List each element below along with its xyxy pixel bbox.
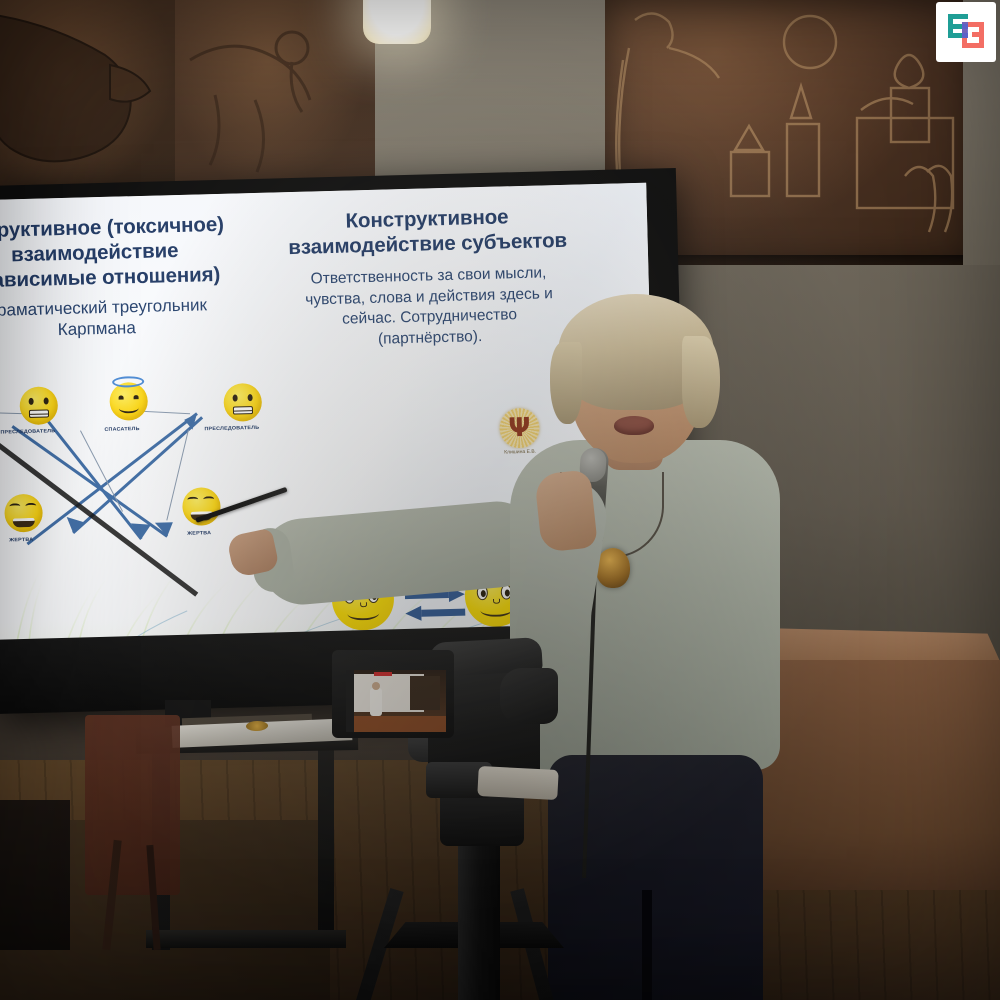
- camera-grip-strap: [477, 766, 558, 800]
- bas-relief-panel-left: [160, 0, 375, 200]
- lcd-side-controls: [346, 670, 354, 732]
- dragon-head-sculpture: [0, 0, 175, 195]
- podium-lower-shelf: [146, 930, 346, 948]
- presenter-left-hand: [534, 469, 598, 552]
- right-title: Конструктивное взаимодействие субъектов: [277, 203, 578, 261]
- partnership-diagram: [0, 183, 646, 200]
- slide-left-column: еструктивное (токсичное) взаимодействие …: [0, 211, 262, 344]
- tripod-center-column: [458, 836, 500, 1000]
- presenter-pendant: [596, 548, 630, 588]
- lcd-preview-dark-area: [410, 676, 440, 710]
- camera-lcd-housing: [332, 650, 454, 738]
- label-rescuer: СПАСАТЕЛЬ: [104, 426, 139, 432]
- presenter-hair-left: [550, 342, 582, 424]
- presenter-hair-right: [682, 336, 720, 428]
- lcd-record-indicator: [374, 672, 392, 676]
- ceiling-lamp: [363, 0, 431, 44]
- camera-eyepiece: [500, 668, 558, 724]
- lcd-preview-person-head: [372, 682, 380, 690]
- photo-scene: еструктивное (токсичное) взаимодействие …: [0, 0, 1000, 1000]
- left-subtitle: Драматический треугольник Карпмана: [0, 293, 262, 344]
- lcd-preview-person: [370, 688, 382, 716]
- speaker-box: [0, 800, 70, 950]
- left-title: еструктивное (токсичное) взаимодействие …: [0, 211, 261, 295]
- chair: [85, 715, 180, 895]
- corner-logo: [936, 2, 996, 62]
- tripod-head: [440, 790, 524, 846]
- logo-marks: [946, 12, 986, 52]
- karpman-triangle-diagram: ПРЕСЛЕДОВАТЕЛЬ СПАСАТЕЛЬ ПРЕСЛЕДОВАТЕЛЬ: [0, 183, 646, 200]
- video-camera-on-tripod: [330, 640, 590, 1000]
- logo-overlap: [962, 22, 968, 38]
- presenter-mouth: [614, 416, 654, 435]
- label-victim-left: ЖЕРТВА: [9, 537, 33, 543]
- left-title-line-3: озависимые отношения): [0, 261, 261, 295]
- label-victim-right: ЖЕРТВА: [187, 531, 211, 537]
- trouser-seam: [642, 890, 652, 1000]
- lcd-preview-floor: [346, 716, 446, 732]
- camera-lcd-screen[interactable]: [346, 670, 446, 732]
